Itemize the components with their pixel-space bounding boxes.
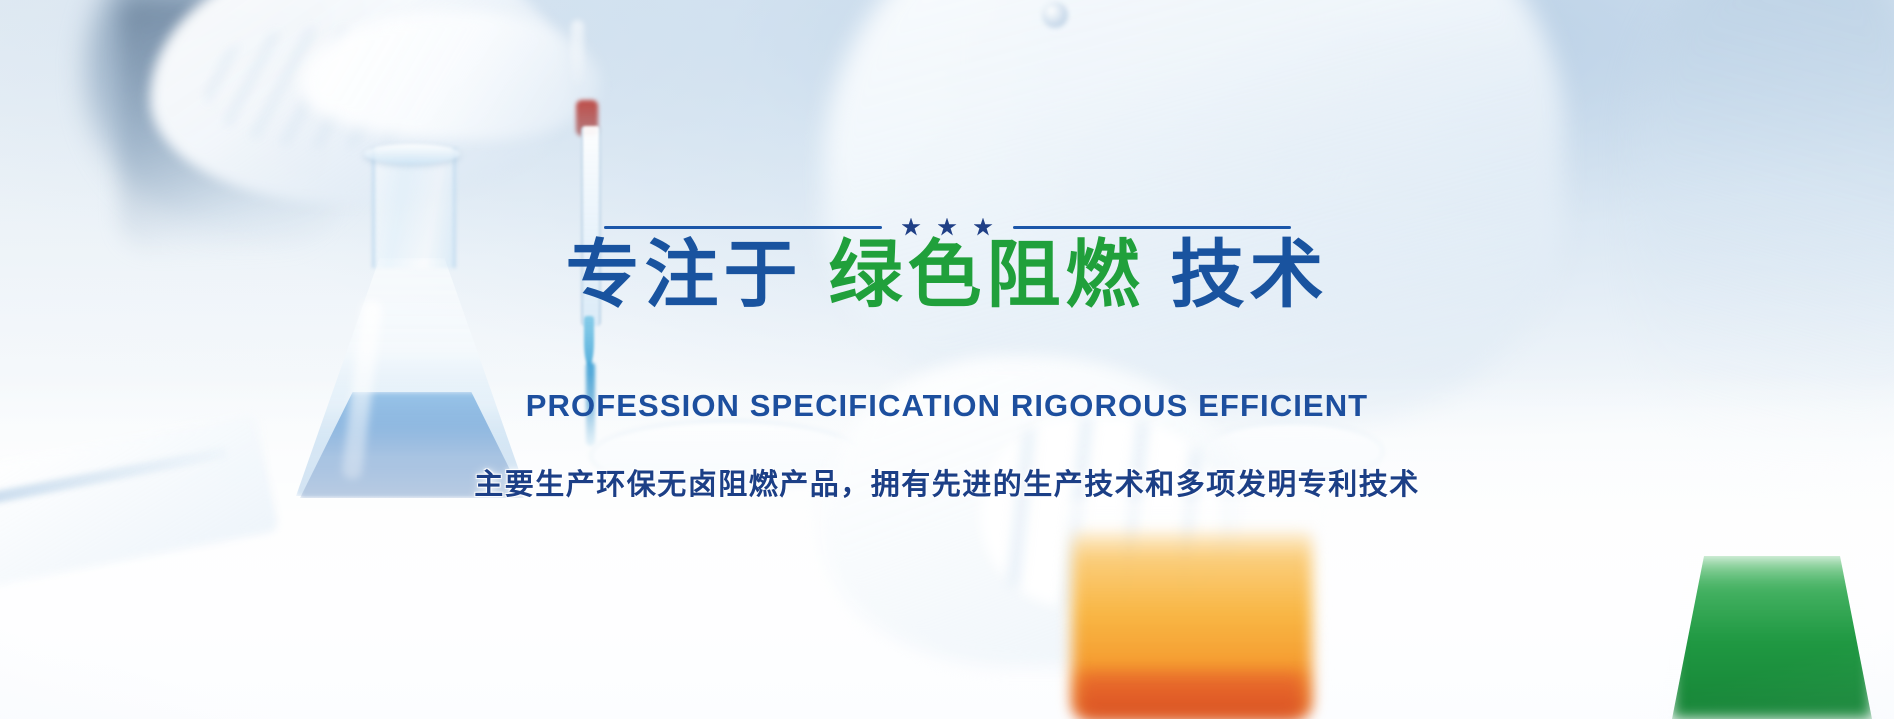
hero-banner: 专注于 绿色阻燃 技术 PROFESSION SPECIFICATION RIG…: [0, 0, 1894, 719]
banner-tagline-chinese: 主要生产环保无卤阻燃产品，拥有先进的生产技术和多项发明专利技术: [474, 461, 1420, 503]
banner-content: 专注于 绿色阻燃 技术 PROFESSION SPECIFICATION RIG…: [0, 0, 1894, 719]
headline-part-green-flame-retardant: 绿色阻燃: [829, 238, 1145, 312]
headline-part-technology: 技术: [1171, 238, 1329, 312]
divider-rule-left: [604, 226, 882, 229]
headline-part-focus-on: 专注于: [566, 238, 803, 312]
banner-headline: 专注于 绿色阻燃 技术: [566, 238, 1329, 312]
divider-rule-right: [1013, 226, 1291, 229]
banner-subtitle-english: PROFESSION SPECIFICATION RIGOROUS EFFICI…: [526, 388, 1368, 424]
